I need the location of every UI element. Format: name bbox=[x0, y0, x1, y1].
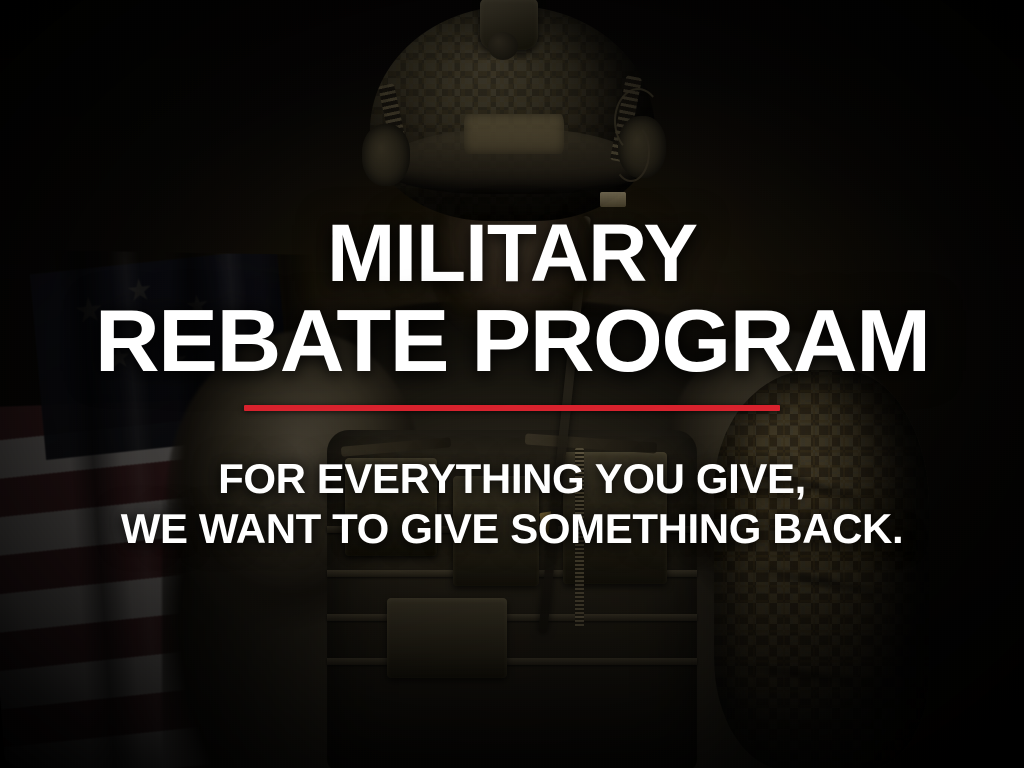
headline-line-1: MILITARY bbox=[327, 214, 697, 294]
text-overlay: MILITARY REBATE PROGRAM FOR EVERYTHING Y… bbox=[0, 0, 1024, 768]
headline-line-2: REBATE PROGRAM bbox=[95, 298, 930, 384]
military-rebate-poster: MILITARY REBATE PROGRAM FOR EVERYTHING Y… bbox=[0, 0, 1024, 768]
subhead-line-1: FOR EVERYTHING YOU GIVE, bbox=[218, 455, 806, 504]
subhead-line-2: WE WANT TO GIVE SOMETHING BACK. bbox=[121, 505, 904, 554]
red-divider-rule bbox=[244, 405, 780, 411]
